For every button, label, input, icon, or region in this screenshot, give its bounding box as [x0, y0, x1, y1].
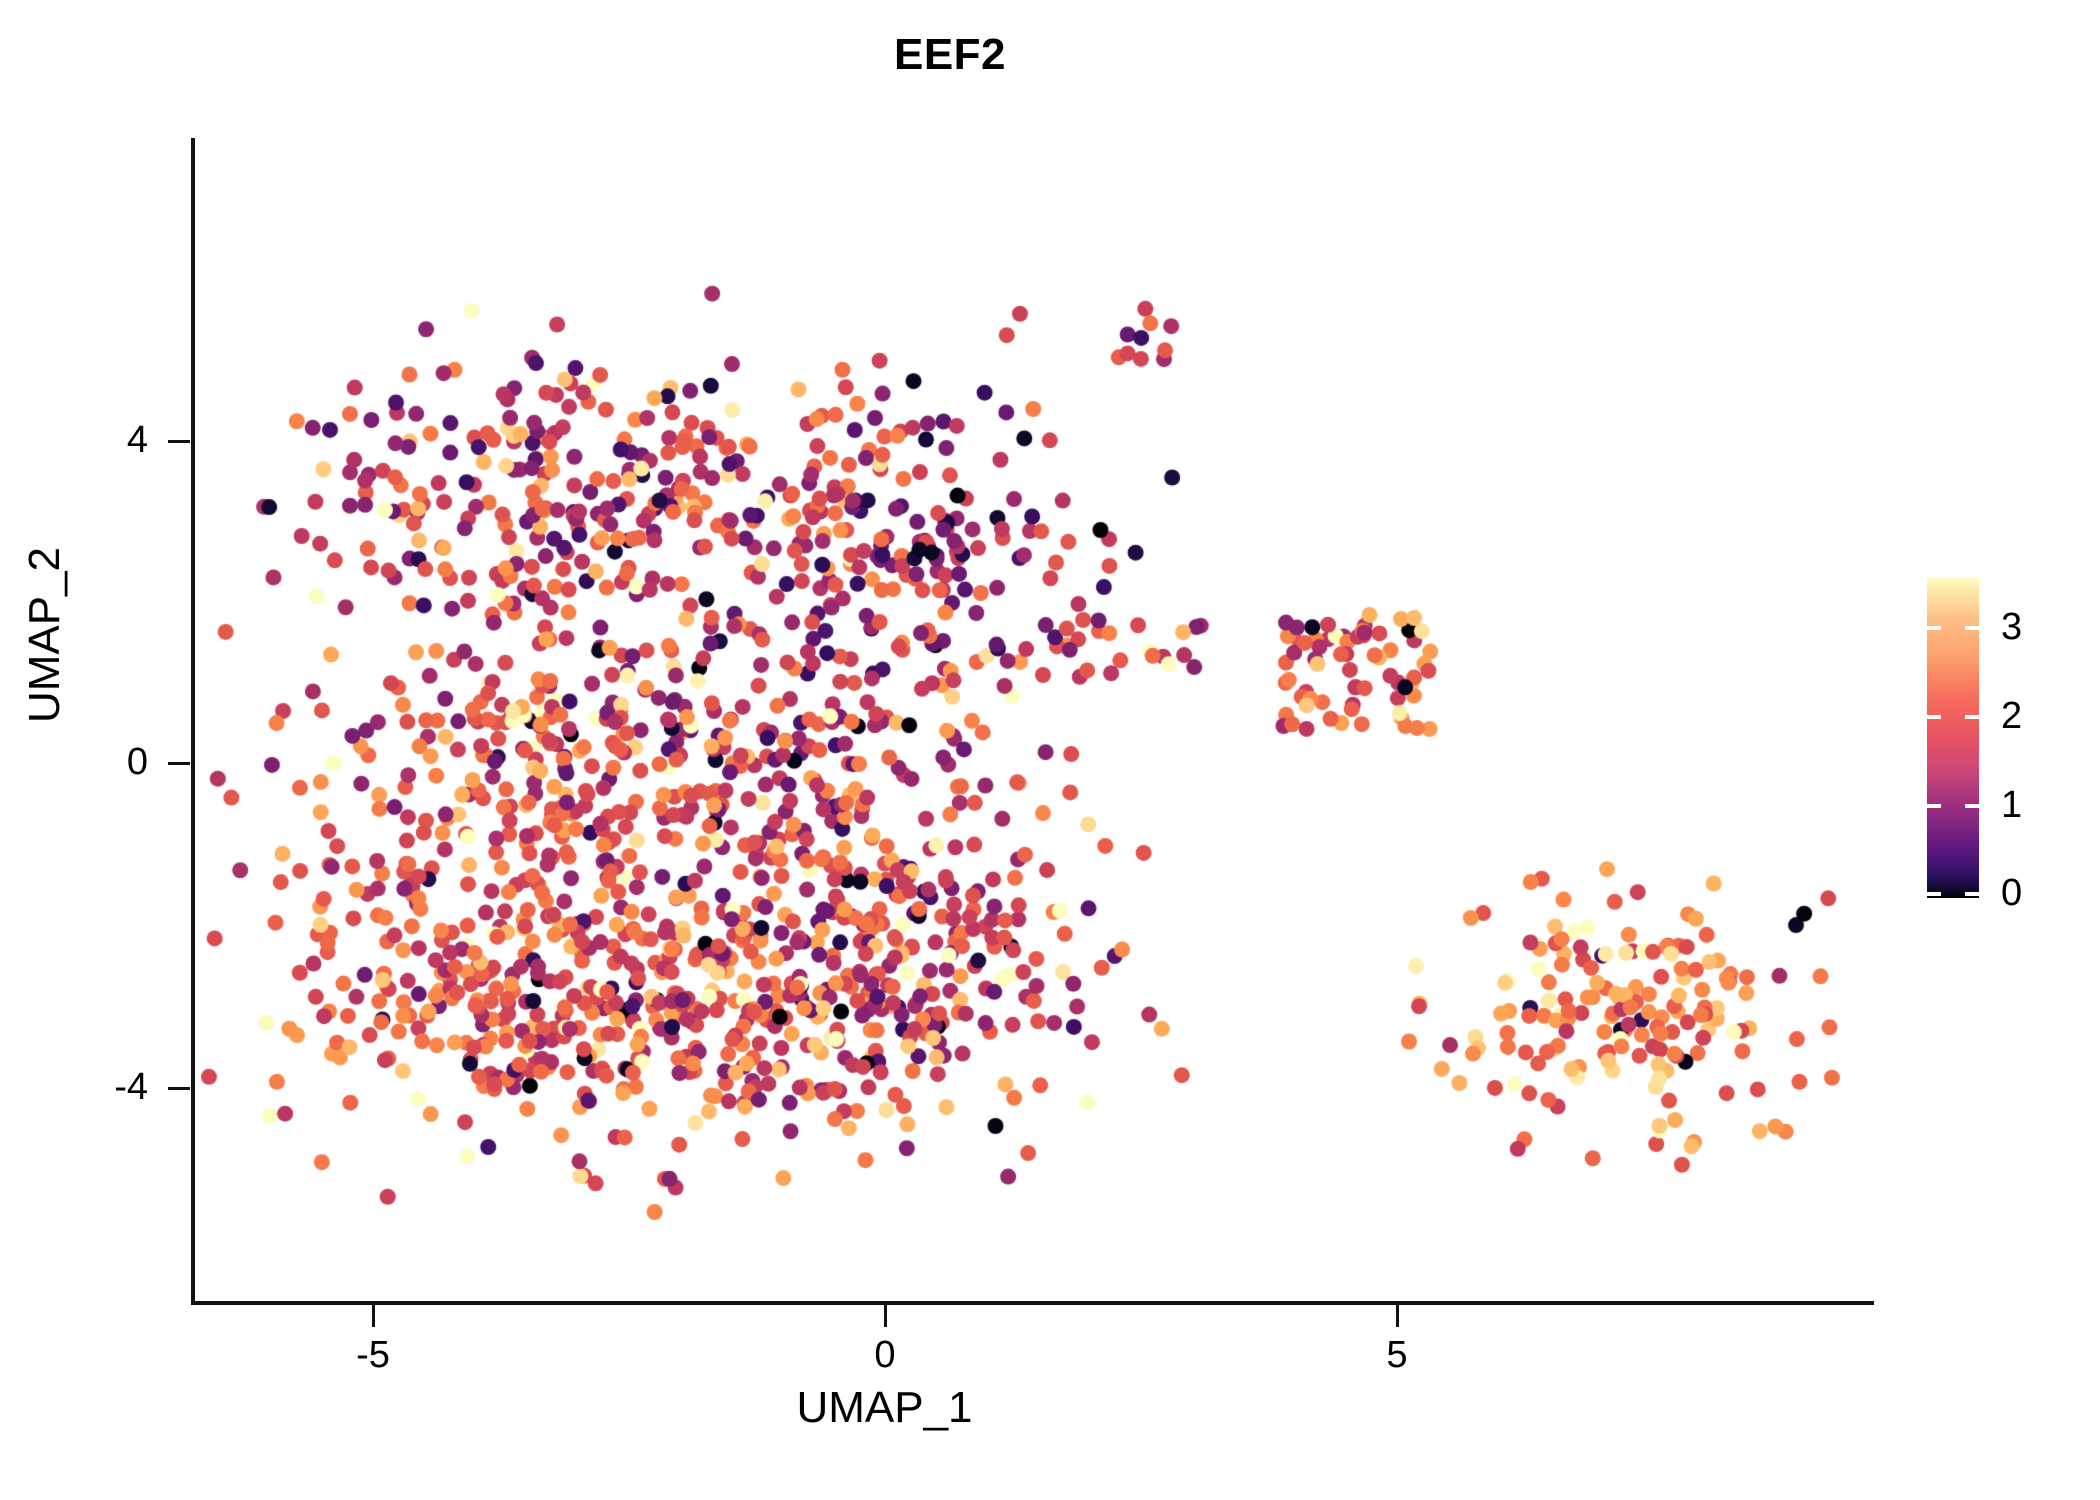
- x-axis-tick-0: [884, 1305, 887, 1327]
- colorbar-tick-2-right: [1965, 715, 1979, 719]
- y-axis-tick-label-4: 4: [88, 421, 148, 459]
- scatter-points-layer: [193, 140, 1872, 1303]
- page-title: EEF2: [0, 30, 1900, 80]
- x-axis-label: UMAP_1: [463, 1383, 1306, 1433]
- y-axis-tick-neg4: [168, 1087, 190, 1090]
- colorbar-label-1: 1: [2001, 786, 2061, 824]
- x-axis-tick-label-0: 0: [825, 1336, 945, 1374]
- colorbar-tick-2-left: [1927, 715, 1941, 719]
- y-axis-label: UMAP_2: [20, 385, 70, 885]
- colorbar-label-0: 0: [2001, 874, 2061, 912]
- colorbar-label-2: 2: [2001, 697, 2061, 735]
- umap-feature-plot: EEF2 4 0 -4 -5 0 5 UMAP_2 UMAP_1 3 2 1 0: [0, 0, 2100, 1500]
- colorbar-tick-1-right: [1965, 804, 1979, 808]
- x-axis-tick-5: [1396, 1305, 1399, 1327]
- x-axis-tick-neg5: [372, 1305, 375, 1327]
- y-axis-tick-label-0: 0: [88, 743, 148, 781]
- colorbar-legend: 3 2 1 0: [1927, 578, 1979, 898]
- y-axis-tick-4: [168, 440, 190, 443]
- colorbar-tick-3-right: [1965, 626, 1979, 630]
- x-axis-tick-label-5: 5: [1337, 1336, 1457, 1374]
- x-axis-tick-label-neg5: -5: [313, 1336, 433, 1374]
- colorbar-tick-0-right: [1965, 892, 1979, 896]
- colorbar-tick-0-left: [1927, 892, 1941, 896]
- colorbar-tick-1-left: [1927, 804, 1941, 808]
- y-axis-tick-0: [168, 762, 190, 765]
- y-axis-tick-label-neg4: -4: [88, 1068, 148, 1106]
- colorbar-label-3: 3: [2001, 608, 2061, 646]
- colorbar-tick-3-left: [1927, 626, 1941, 630]
